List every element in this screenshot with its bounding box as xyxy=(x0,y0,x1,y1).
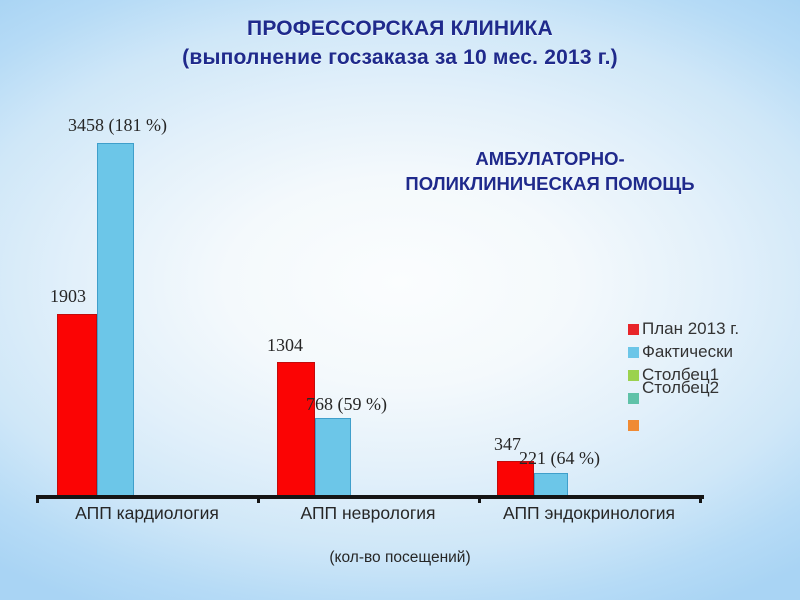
legend-label-fact: Фактически xyxy=(642,341,733,363)
legend-label-column2: Столбец2 xyxy=(642,377,719,399)
category-label-neurology: АПП неврология xyxy=(257,503,479,524)
value-label-plan-cardiology: 1903 xyxy=(50,286,86,307)
legend-item-plan[interactable]: План 2013 г. xyxy=(628,318,798,341)
legend-swatch-plan-icon xyxy=(628,324,639,335)
legend-item-column2[interactable]: Столбец2 xyxy=(628,387,798,410)
bar-fact-cardiology xyxy=(97,143,134,496)
value-label-plan-neurology: 1304 xyxy=(267,335,303,356)
bar-plan-cardiology xyxy=(57,314,97,496)
value-label-plan-endocrinology: 347 xyxy=(494,434,521,455)
legend-swatch-fact-icon xyxy=(628,347,639,358)
legend-swatch-column2-icon xyxy=(628,393,639,404)
category-axis-line xyxy=(36,495,704,499)
value-label-fact-neurology: 768 (59 %) xyxy=(306,394,387,415)
category-label-cardiology: АПП кардиология xyxy=(36,503,258,524)
axis-tick-3 xyxy=(478,495,481,503)
axis-tick-2 xyxy=(257,495,260,503)
bar-fact-endocrinology xyxy=(534,473,568,496)
axis-unit-note: (кол-во посещений) xyxy=(0,549,800,567)
legend-item-fact[interactable]: Фактически xyxy=(628,341,798,364)
category-label-endocrinology: АПП эндокринология xyxy=(478,503,700,524)
bar-fact-neurology xyxy=(315,418,351,496)
value-label-fact-cardiology: 3458 (181 %) xyxy=(68,115,167,136)
legend-label-plan: План 2013 г. xyxy=(642,318,739,340)
legend-swatch-column1-icon xyxy=(628,370,639,381)
bar-chart-plot-area: 1903 3458 (181 %) 1304 768 (59 %) 347 22… xyxy=(0,0,800,600)
legend-swatch-extra-icon xyxy=(628,420,639,431)
value-label-fact-endocrinology: 221 (64 %) xyxy=(519,448,600,469)
chart-legend: План 2013 г. Фактически Столбец1 Столбец… xyxy=(628,318,798,433)
axis-tick-4 xyxy=(699,495,702,503)
axis-tick-1 xyxy=(36,495,39,503)
bar-plan-neurology xyxy=(277,362,315,496)
slide-canvas: ПРОФЕССОРСКАЯ КЛИНИКА (выполнение госзак… xyxy=(0,0,800,600)
legend-item-extra[interactable] xyxy=(628,410,798,433)
